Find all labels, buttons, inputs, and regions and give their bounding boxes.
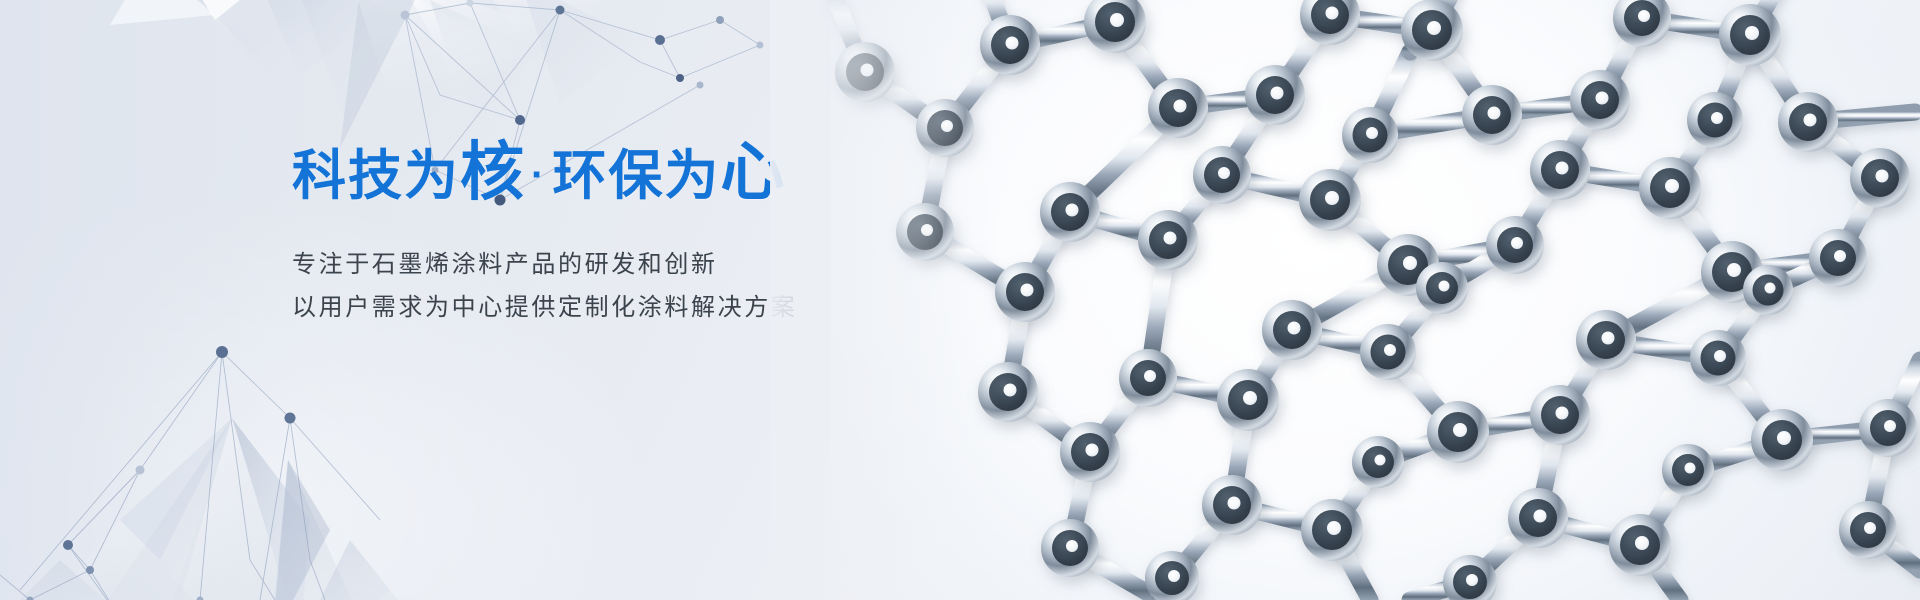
lattice-atom bbox=[1743, 265, 1793, 315]
lattice-bonds bbox=[832, 0, 1920, 600]
lattice-atom bbox=[1690, 330, 1746, 386]
lattice-atom bbox=[1687, 92, 1743, 148]
lattice-atom bbox=[1299, 169, 1361, 231]
lattice-atom bbox=[1401, 0, 1463, 61]
lattice-atom bbox=[978, 362, 1038, 422]
lattice-atom bbox=[1839, 501, 1897, 559]
headline-segment-3: 环保为 bbox=[552, 146, 720, 206]
lattice-atom bbox=[1639, 157, 1701, 219]
bottom-left-network-lines bbox=[0, 352, 380, 600]
lattice-atom bbox=[1778, 92, 1838, 152]
lattice-atom bbox=[1859, 399, 1917, 457]
lattice-atom bbox=[1486, 216, 1544, 274]
lattice-atom bbox=[1193, 146, 1251, 204]
headline-segment-1: 科技为 bbox=[292, 146, 460, 206]
lattice-atom bbox=[1809, 229, 1867, 287]
lattice-atom bbox=[1245, 65, 1305, 125]
lattice-atom bbox=[1462, 85, 1522, 145]
lattice-atom bbox=[1217, 369, 1279, 431]
top-left-polygons bbox=[110, 0, 640, 148]
headline-segment-4: 心 bbox=[720, 136, 785, 208]
lattice-atom bbox=[1719, 4, 1781, 66]
lattice-atom bbox=[1202, 475, 1262, 535]
hero-text-block: 科技为核·环保为心 专注于石墨烯涂料产品的研发和创新 以用户需求为中心提供定制化… bbox=[292, 140, 992, 329]
lattice-atom bbox=[1530, 385, 1590, 445]
lattice-atom bbox=[1360, 324, 1416, 380]
lattice-atom bbox=[1342, 107, 1398, 163]
lattice-atom bbox=[1262, 300, 1322, 360]
hero-subtitle: 专注于石墨烯涂料产品的研发和创新 以用户需求为中心提供定制化涂料解决方案 bbox=[292, 244, 992, 329]
lattice-atom bbox=[980, 15, 1040, 75]
subtitle-line-2: 以用户需求为中心提供定制化涂料解决方案 bbox=[292, 287, 992, 330]
lattice-atom bbox=[1352, 436, 1404, 488]
hero-banner: 科技为核·环保为心 专注于石墨烯涂料产品的研发和创新 以用户需求为中心提供定制化… bbox=[0, 0, 1920, 600]
right-glow bbox=[830, 0, 1920, 600]
page-title: 科技为核·环保为心 bbox=[292, 140, 992, 204]
lattice-atom bbox=[1040, 182, 1100, 242]
lattice-atom bbox=[1570, 70, 1630, 130]
lattice-atom bbox=[1300, 0, 1360, 45]
lattice-atom bbox=[1148, 78, 1208, 138]
lattice-atom bbox=[1609, 514, 1671, 576]
lattice-atom bbox=[1662, 444, 1714, 496]
lattice-atom bbox=[1301, 499, 1363, 561]
headline-separator: · bbox=[525, 153, 552, 197]
lattice-atom bbox=[1701, 241, 1763, 303]
lattice-atom bbox=[1145, 551, 1199, 600]
bottom-left-polygons bbox=[0, 418, 470, 600]
lattice-atom bbox=[995, 262, 1055, 322]
headline-segment-2: 核 bbox=[460, 136, 525, 208]
subtitle-line-1: 专注于石墨烯涂料产品的研发和创新 bbox=[292, 244, 992, 287]
lattice-atom bbox=[1443, 555, 1497, 600]
lattice-atom bbox=[1060, 422, 1120, 482]
lattice-atom bbox=[835, 42, 895, 102]
lattice-atom bbox=[1508, 488, 1568, 548]
lattice-atom bbox=[1613, 0, 1671, 47]
bottom-left-network-nodes bbox=[27, 346, 296, 600]
lattice-atom bbox=[1084, 0, 1146, 53]
lattice-atom bbox=[1850, 148, 1910, 208]
lattice-atom bbox=[1576, 310, 1636, 370]
lattice-atom bbox=[1416, 262, 1468, 314]
lattice-atom bbox=[1530, 140, 1590, 200]
lattice-atom bbox=[1751, 409, 1813, 471]
lattice-atom bbox=[1041, 519, 1099, 577]
lattice-atom bbox=[1138, 210, 1198, 270]
lattice-atom bbox=[1119, 349, 1177, 407]
lattice-atoms bbox=[835, 0, 1917, 600]
lattice-atom bbox=[1377, 234, 1439, 296]
lattice-atom bbox=[1427, 401, 1489, 463]
